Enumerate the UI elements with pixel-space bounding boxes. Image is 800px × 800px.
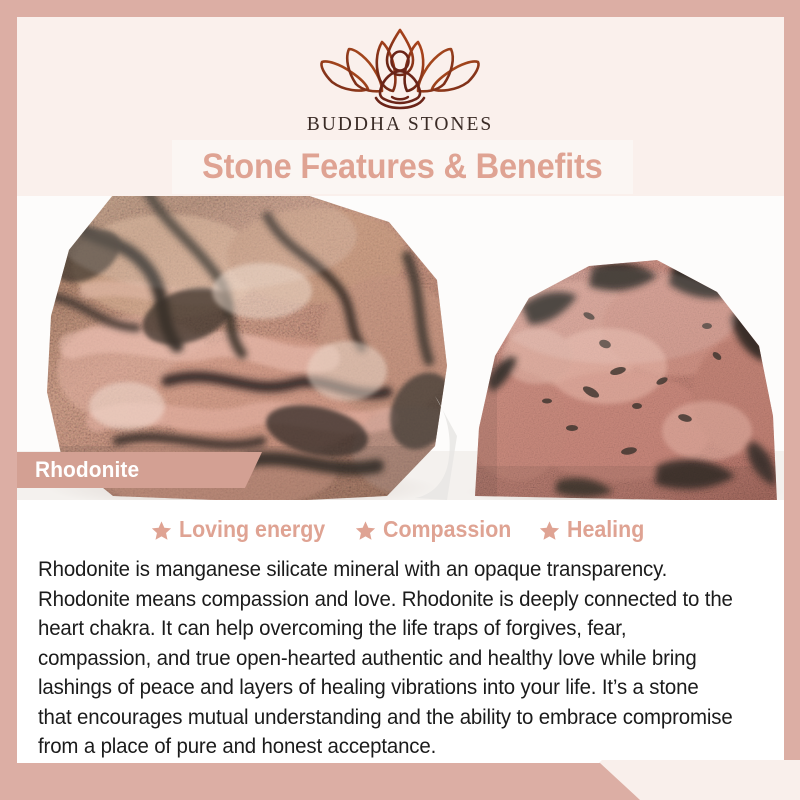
page-title: Stone Features & Benefits — [202, 147, 603, 187]
feature-label: Loving energy — [179, 516, 325, 543]
stone-description: Rhodonite is manganese silicate mineral … — [38, 555, 733, 762]
star-icon — [539, 520, 560, 541]
lotus-meditation-icon — [314, 22, 486, 110]
feature-item-loving-energy: Loving energy — [142, 516, 345, 543]
star-icon — [151, 520, 172, 541]
stone-name-banner: Rhodonite — [17, 452, 262, 488]
feature-item-healing: Healing — [530, 516, 659, 543]
feature-item-compassion: Compassion — [346, 516, 530, 543]
feature-label: Compassion — [383, 516, 511, 543]
poster-root: BUDDHA STONES Stone Features & Benefits — [0, 0, 800, 800]
title-band: Stone Features & Benefits — [172, 140, 633, 194]
brand-name: BUDDHA STONES — [307, 114, 494, 136]
feature-list: Loving energy Compassion Healing — [17, 516, 784, 543]
description-card: Loving energy Compassion Healing — [17, 500, 784, 763]
feature-label: Healing — [567, 516, 644, 543]
stone-name: Rhodonite — [35, 457, 139, 483]
brand-logo-block: BUDDHA STONES — [0, 22, 800, 136]
star-icon — [355, 520, 376, 541]
